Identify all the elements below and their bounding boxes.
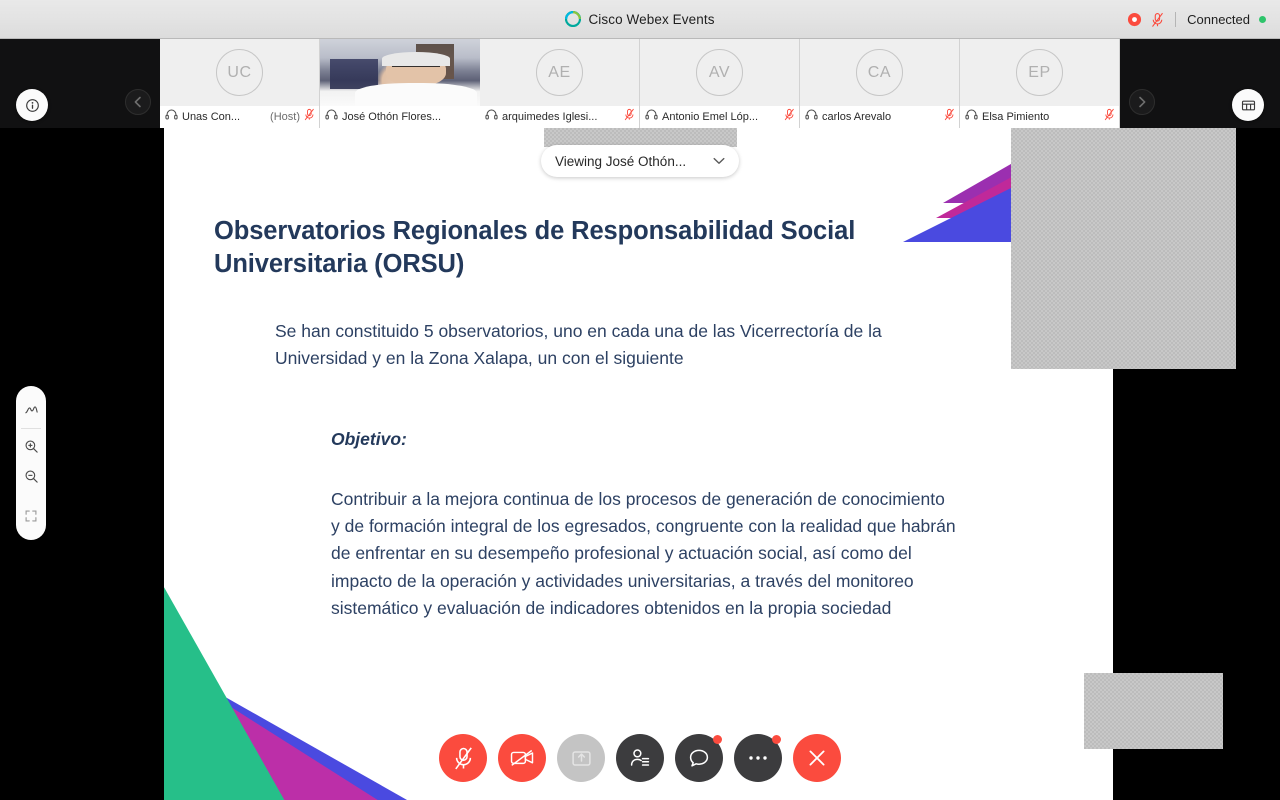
headset-icon <box>485 108 498 126</box>
participant-label: Antonio Emel Lóp... <box>640 106 799 128</box>
app-title: Cisco Webex Events <box>588 12 714 27</box>
layout-button[interactable] <box>1232 89 1264 121</box>
title-bar: Cisco Webex Events Connected <box>0 0 1280 39</box>
avatar: AV <box>640 39 799 106</box>
toolbar-separator <box>21 428 41 429</box>
participant-role: (Host) <box>270 111 300 123</box>
headset-icon <box>645 108 658 126</box>
chevron-left-icon <box>133 96 143 108</box>
slide-intro-paragraph: Se han constituido 5 observatorios, uno … <box>275 318 955 372</box>
layout-grid-icon <box>1241 98 1256 113</box>
viewing-selector[interactable]: Viewing José Othón... <box>541 145 739 177</box>
participant-name: Unas Con... <box>182 111 266 123</box>
presentation-slide: Observatorios Regionales de Responsabili… <box>164 128 1113 800</box>
participant-name: Elsa Pimiento <box>982 111 1100 123</box>
participant-label: Elsa Pimiento <box>960 106 1119 128</box>
zoom-out-button[interactable] <box>16 461 46 491</box>
participant-name: José Othón Flores... <box>342 111 472 123</box>
end-call-icon <box>806 747 828 769</box>
zoom-in-button[interactable] <box>16 432 46 462</box>
video-off-icon <box>510 748 535 768</box>
participant-tile[interactable]: CA carlos Arevalo <box>800 39 960 128</box>
filmstrip-tiles: UC Unas Con... (Host) <box>160 39 1120 128</box>
slide-title-main: Observatorios Regionales de Responsabili… <box>214 217 855 278</box>
filmstrip-prev-button[interactable] <box>125 89 151 115</box>
participant-label: carlos Arevalo <box>800 106 959 128</box>
headset-icon <box>805 108 818 126</box>
participant-filmstrip: UC Unas Con... (Host) <box>0 39 1280 128</box>
more-options-icon <box>747 754 769 762</box>
chat-button[interactable] <box>675 734 723 782</box>
mic-muted-icon <box>304 108 315 126</box>
participant-name: carlos Arevalo <box>822 111 940 123</box>
zoom-in-icon <box>24 439 39 454</box>
viewing-label: Viewing José Othón... <box>555 154 713 169</box>
annotate-button[interactable] <box>16 395 46 425</box>
end-call-button[interactable] <box>793 734 841 782</box>
video-person-shirt <box>355 83 477 106</box>
avatar-initials: AV <box>696 49 743 96</box>
participants-icon <box>629 747 651 769</box>
connection-status: Connected <box>1187 12 1250 27</box>
slide-title-acronym: ORSU <box>383 250 456 278</box>
avatar-initials: UC <box>216 49 263 96</box>
participant-tile[interactable]: AE arquimedes Iglesi... <box>480 39 640 128</box>
participant-tile[interactable]: UC Unas Con... (Host) <box>160 39 320 128</box>
participant-label: José Othón Flores... <box>320 106 480 128</box>
participant-label: arquimedes Iglesi... <box>480 106 639 128</box>
video-button[interactable] <box>498 734 546 782</box>
annotate-pen-icon <box>24 402 39 417</box>
zoom-out-icon <box>24 469 39 484</box>
headset-icon <box>165 108 178 126</box>
info-icon <box>25 98 40 113</box>
mic-muted-icon <box>624 108 635 126</box>
slide-title: Observatorios Regionales de Responsabili… <box>214 215 954 281</box>
filmstrip-next-button[interactable] <box>1129 89 1155 115</box>
mic-muted-icon <box>784 108 795 126</box>
chat-unread-badge <box>713 735 722 744</box>
participant-tile[interactable]: AV Antonio Emel Lóp... <box>640 39 800 128</box>
participant-name: Antonio Emel Lóp... <box>662 111 780 123</box>
video-person-hair <box>382 52 449 65</box>
shared-content-stage: Observatorios Regionales de Responsabili… <box>0 128 1280 800</box>
mic-muted-icon <box>944 108 955 126</box>
avatar: EP <box>960 39 1119 106</box>
mute-button[interactable] <box>439 734 487 782</box>
slide-objective-paragraph: Contribuir a la mejora continua de los p… <box>331 486 956 622</box>
participant-video <box>320 39 480 106</box>
fullscreen-icon <box>24 509 38 523</box>
video-placeholder-top-right <box>1011 128 1236 369</box>
participant-tile[interactable]: EP Elsa Pimiento <box>960 39 1120 128</box>
slide-title-tail: ) <box>456 250 464 278</box>
webex-app-window: Cisco Webex Events Connected <box>0 0 1280 800</box>
chat-icon <box>688 747 710 769</box>
avatar-initials: CA <box>856 49 903 96</box>
video-person-glasses <box>392 66 440 71</box>
slide-objective-label: Objetivo: <box>331 429 407 450</box>
share-content-button[interactable] <box>557 734 605 782</box>
webex-logo-icon <box>565 11 581 27</box>
mic-muted-icon <box>453 746 474 771</box>
headset-icon <box>965 108 978 126</box>
mic-muted-icon[interactable] <box>1151 12 1164 28</box>
participant-label: Unas Con... (Host) <box>160 106 319 128</box>
meeting-controls-bar <box>0 725 1280 791</box>
title-bar-center: Cisco Webex Events <box>565 11 714 27</box>
mic-muted-icon <box>1104 108 1115 126</box>
avatar: UC <box>160 39 319 106</box>
toolbar-divider <box>1175 12 1176 27</box>
title-bar-right: Connected <box>1127 0 1266 39</box>
headset-icon <box>325 108 338 126</box>
share-screen-icon <box>571 748 592 769</box>
connection-status-dot <box>1259 16 1266 23</box>
chevron-right-icon <box>1137 96 1147 108</box>
more-options-button[interactable] <box>734 734 782 782</box>
participant-name: arquimedes Iglesi... <box>502 111 620 123</box>
avatar: AE <box>480 39 639 106</box>
record-icon[interactable] <box>1127 12 1142 27</box>
avatar-initials: AE <box>536 49 583 96</box>
avatar: CA <box>800 39 959 106</box>
more-options-badge <box>772 735 781 744</box>
participant-tile-active[interactable]: José Othón Flores... <box>320 39 480 128</box>
fullscreen-button[interactable] <box>16 501 46 531</box>
avatar-initials: EP <box>1016 49 1063 96</box>
participants-button[interactable] <box>616 734 664 782</box>
chevron-down-icon[interactable] <box>713 152 725 170</box>
slide-tools-toolbar <box>16 386 46 540</box>
meeting-info-button[interactable] <box>16 89 48 121</box>
